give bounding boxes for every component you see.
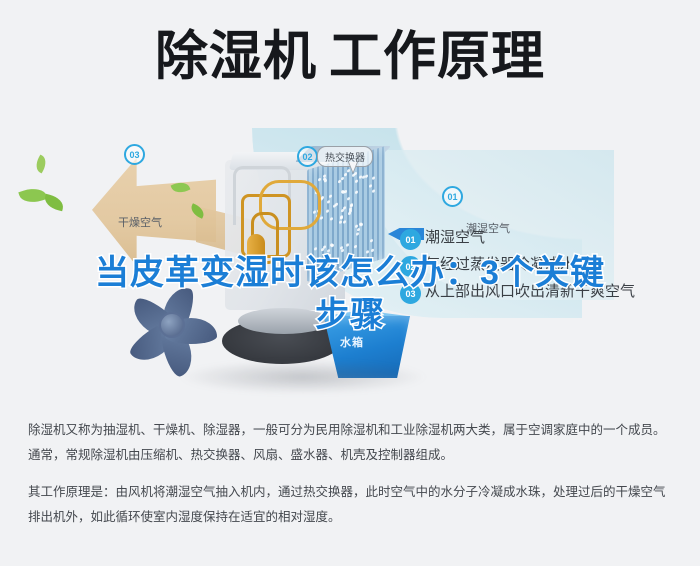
water-tank-label: 水箱 — [340, 334, 364, 350]
water-droplet — [356, 232, 359, 236]
badge-01-moist-air: 01 — [442, 186, 463, 207]
body-copy: 除湿机又称为抽湿机、干燥机、除湿器，一般可分为民用除湿机和工业除湿机两大类，属于… — [28, 418, 674, 542]
step-item: 01 潮湿空气 — [400, 225, 700, 252]
water-droplet — [355, 179, 358, 183]
machine-shadow — [178, 360, 428, 394]
page-title: 除湿机工作原理 — [0, 26, 700, 88]
water-droplet — [318, 178, 321, 182]
body-paragraph-2: 其工作原理是：由风机将潮湿空气抽入机内，通过热交换器，此时空气中的水分子冷凝成水… — [28, 480, 674, 530]
water-droplet — [354, 245, 357, 249]
water-droplet — [343, 219, 346, 223]
water-droplet — [372, 189, 375, 193]
water-droplet — [341, 177, 344, 181]
water-droplet — [333, 204, 336, 208]
infographic-page: 除湿机工作原理 水箱 — [0, 0, 700, 566]
water-droplet — [330, 217, 333, 221]
leaf-icon — [33, 155, 49, 174]
water-droplet — [369, 185, 372, 189]
callout-stem — [348, 162, 358, 174]
water-droplet — [338, 180, 341, 184]
leaf-icon — [18, 184, 47, 206]
badge-02: 02 — [297, 146, 318, 167]
water-droplet — [342, 190, 345, 194]
water-droplet — [349, 209, 352, 213]
water-droplet — [347, 197, 350, 201]
overlay-headline: 当皮革变湿时该怎么办：3个关键步骤 — [0, 252, 700, 336]
water-droplet — [327, 200, 330, 204]
leaf-icon — [43, 194, 66, 211]
water-droplet — [344, 173, 347, 177]
title-part-2: 工作原理 — [329, 27, 545, 86]
body-paragraph-1: 除湿机又称为抽湿机、干燥机、除湿器，一般可分为民用除湿机和工业除湿机两大类，属于… — [28, 418, 674, 468]
water-droplet — [365, 175, 368, 179]
water-droplet — [355, 224, 358, 228]
heat-exchanger-callout: 热交换器 — [317, 146, 373, 167]
water-droplet — [355, 190, 358, 194]
water-droplet — [343, 206, 346, 210]
water-droplet — [370, 239, 373, 243]
badge-03-dry-air: 03 — [124, 144, 145, 165]
water-droplet — [321, 195, 324, 199]
water-droplet — [372, 176, 375, 180]
water-droplet — [326, 209, 329, 213]
step-text-01: 潮湿空气 — [425, 225, 485, 250]
water-droplet — [362, 175, 365, 179]
overlay-headline-text: 当皮革变湿时该怎么办：3个关键步骤 — [80, 252, 620, 336]
step-badge-01: 01 — [400, 229, 421, 250]
water-droplet — [350, 203, 353, 207]
water-droplet — [339, 220, 342, 224]
water-droplet — [329, 194, 332, 198]
dry-air-label: 干燥空气 — [118, 214, 162, 230]
water-droplet — [320, 216, 323, 220]
water-droplet — [346, 243, 349, 247]
water-droplet — [314, 247, 317, 251]
title-part-1: 除湿机 — [155, 27, 317, 86]
